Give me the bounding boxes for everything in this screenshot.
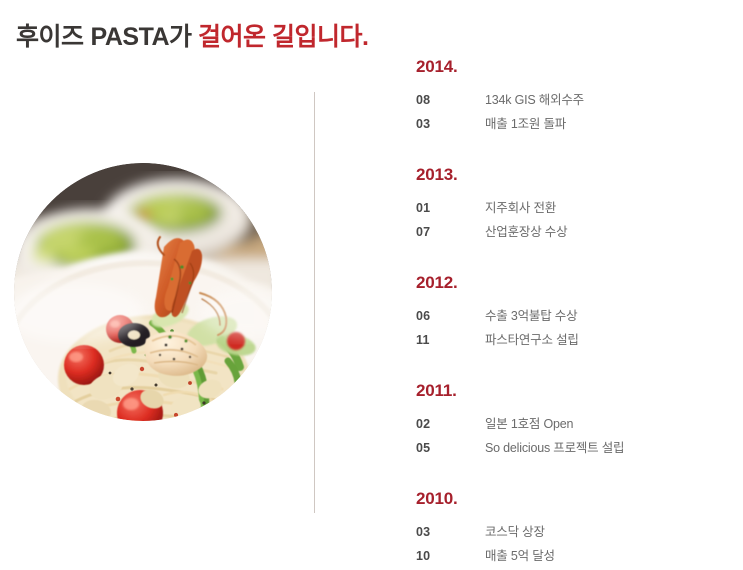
event-description: So delicious 프로젝트 설립 [485, 436, 736, 460]
timeline-event-row: 11파스타연구소 설립 [416, 328, 736, 352]
timeline-event-row: 01지주회사 전환 [416, 196, 736, 220]
page-title: 후이즈PASTA가 걸어온 길입니다. [16, 19, 368, 55]
event-month: 02 [416, 412, 485, 436]
year-block: 2014.08134k GIS 해외수주03매출 1조원 돌파 [416, 56, 736, 136]
event-month: 06 [416, 304, 485, 328]
timeline-event-row: 03코스닥 상장 [416, 520, 736, 544]
timeline-event-row: 08134k GIS 해외수주 [416, 88, 736, 112]
event-month: 08 [416, 88, 485, 112]
event-description: 매출 5억 달성 [485, 544, 736, 568]
year-block: 2011.02일본 1호점 Open05So delicious 프로젝트 설립 [416, 380, 736, 460]
event-month: 05 [416, 436, 485, 460]
year-label: 2010. [416, 488, 736, 510]
event-month: 01 [416, 196, 485, 220]
event-description: 지주회사 전환 [485, 196, 736, 220]
year-label: 2012. [416, 272, 736, 294]
year-label: 2011. [416, 380, 736, 402]
event-month: 03 [416, 520, 485, 544]
event-description: 코스닥 상장 [485, 520, 736, 544]
year-block: 2010.03코스닥 상장10매출 5억 달성 [416, 488, 736, 568]
event-month: 07 [416, 220, 485, 244]
timeline-event-row: 07산업훈장상 수상 [416, 220, 736, 244]
timeline-event-row: 06수출 3억불탑 수상 [416, 304, 736, 328]
event-description: 수출 3억불탑 수상 [485, 304, 736, 328]
pasta-photo-graphic [14, 163, 272, 421]
event-month: 11 [416, 328, 485, 352]
year-block: 2012.06수출 3억불탑 수상11파스타연구소 설립 [416, 272, 736, 352]
event-month: 10 [416, 544, 485, 568]
event-description: 파스타연구소 설립 [485, 328, 736, 352]
page-title-word-2: PASTA가 [91, 23, 192, 51]
timeline-event-row: 03매출 1조원 돌파 [416, 112, 736, 136]
event-description: 134k GIS 해외수주 [485, 88, 736, 112]
timeline-event-row: 05So delicious 프로젝트 설립 [416, 436, 736, 460]
event-month: 03 [416, 112, 485, 136]
pasta-photo [14, 163, 272, 421]
event-description: 일본 1호점 Open [485, 412, 736, 436]
event-description: 매출 1조원 돌파 [485, 112, 736, 136]
timeline-divider [314, 92, 315, 513]
timeline-event-row: 10매출 5억 달성 [416, 544, 736, 568]
history-timeline: 2014.08134k GIS 해외수주03매출 1조원 돌파2013.01지주… [416, 56, 736, 568]
event-description: 산업훈장상 수상 [485, 220, 736, 244]
page-title-accent: 걸어온 길입니다. [198, 23, 368, 51]
year-label: 2014. [416, 56, 736, 78]
timeline-event-row: 02일본 1호점 Open [416, 412, 736, 436]
year-label: 2013. [416, 164, 736, 186]
year-block: 2013.01지주회사 전환07산업훈장상 수상 [416, 164, 736, 244]
page-title-word-1: 후이즈 [16, 23, 84, 51]
